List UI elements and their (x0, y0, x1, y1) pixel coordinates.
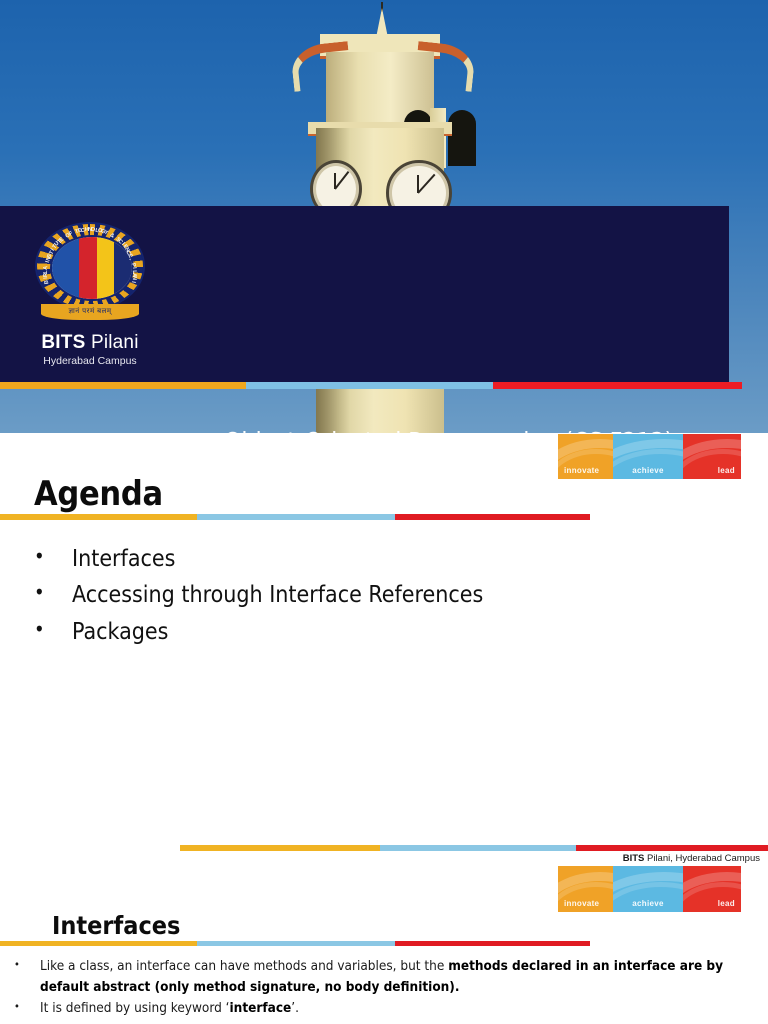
logo-label-innovate: innovate (564, 899, 599, 908)
list-item: • Like a class, an interface can have me… (14, 956, 758, 997)
logo-label-achieve: achieve (632, 466, 663, 475)
interfaces-item-text: Like a class, an interface can have meth… (40, 956, 758, 997)
list-item: • Accessing through Interface References (34, 577, 734, 613)
footer-campus: Pilani, Hyderabad Campus (644, 853, 760, 864)
accent-bar-blue (380, 845, 576, 851)
logo-panel-achieve: achieve (613, 866, 683, 912)
agenda-heading: Agenda (34, 474, 163, 514)
institute-name-light: Pilani (91, 332, 139, 353)
logo-panel-lead: lead (683, 866, 741, 912)
agenda-item-label: Packages (72, 614, 168, 650)
list-item: • Interfaces (34, 541, 734, 577)
bullet-icon: • (14, 956, 40, 975)
accent-bar-red (493, 382, 742, 389)
bullet-icon: • (34, 614, 72, 646)
agenda-footer-accent-bar (180, 845, 768, 851)
institute-name-bold: BITS (41, 332, 85, 353)
list-item: • Packages (34, 614, 734, 650)
logo-label-achieve: achieve (632, 899, 663, 908)
logo-label-innovate: innovate (564, 466, 599, 475)
footer-brand: BITS (623, 853, 645, 864)
interfaces-heading: Interfaces (52, 911, 180, 940)
accent-bar-blue (246, 382, 493, 389)
bullet-icon: • (34, 541, 72, 573)
accent-bar-blue (197, 514, 395, 520)
bullet-icon: • (14, 998, 40, 1017)
accent-bar-yellow (180, 845, 380, 851)
agenda-accent-bar (0, 514, 590, 520)
tower-belfry (326, 52, 434, 128)
agenda-item-label: Interfaces (72, 541, 175, 577)
title-slide: Object-Oriented Programming (CS F213) In… (0, 0, 768, 433)
slide-footer-text: BITS Pilani, Hyderabad Campus (623, 853, 760, 864)
accent-bar-yellow (0, 941, 197, 946)
institute-name: BITS Pilani (18, 332, 162, 354)
clock-hand-minute-right (417, 174, 435, 194)
interfaces-bullet-list: • Like a class, an interface can have me… (14, 956, 758, 1020)
accent-bar-yellow (0, 382, 246, 389)
bits-crest-icon: ज्ञानं परमं बलम् BIRLA INSTITUTE OF TECH… (31, 222, 149, 326)
logo-panel-achieve: achieve (613, 434, 683, 479)
bits-pilani-branding: ज्ञानं परमं बलम् BIRLA INSTITUTE OF TECH… (18, 222, 162, 372)
belfry-arch-right (448, 110, 476, 166)
accent-bar-blue (197, 941, 395, 946)
campus-name: Hyderabad Campus (18, 355, 162, 367)
logo-panel-innovate: innovate (558, 434, 613, 479)
interfaces-slide: innovate achieve lead Interfaces • Like … (0, 866, 768, 1024)
list-item: • It is defined by using keyword ‘interf… (14, 998, 758, 1019)
interfaces-accent-bar (0, 941, 590, 946)
logo-panel-lead: lead (683, 434, 741, 479)
agenda-item-label: Accessing through Interface References (72, 577, 483, 613)
agenda-bullet-list: • Interfaces • Accessing through Interfa… (34, 541, 734, 650)
accent-bar-red (576, 845, 768, 851)
innovate-achieve-lead-logo: innovate achieve lead (558, 866, 741, 912)
title-accent-bar (0, 382, 742, 389)
bullet-icon: • (34, 577, 72, 609)
accent-bar-red (395, 514, 590, 520)
innovate-achieve-lead-logo: innovate achieve lead (558, 434, 741, 479)
agenda-slide: innovate achieve lead Agenda • Interface… (0, 433, 768, 866)
accent-bar-red (395, 941, 590, 946)
logo-panel-innovate: innovate (558, 866, 613, 912)
crest-arc-text: BIRLA INSTITUTE OF TECHNOLOGY & SCIENCE,… (31, 222, 149, 326)
logo-label-lead: lead (718, 899, 735, 908)
logo-label-lead: lead (718, 466, 735, 475)
accent-bar-yellow (0, 514, 197, 520)
interfaces-item-text: It is defined by using keyword ‘interfac… (40, 998, 758, 1019)
clock-hand-minute-left (334, 171, 349, 190)
